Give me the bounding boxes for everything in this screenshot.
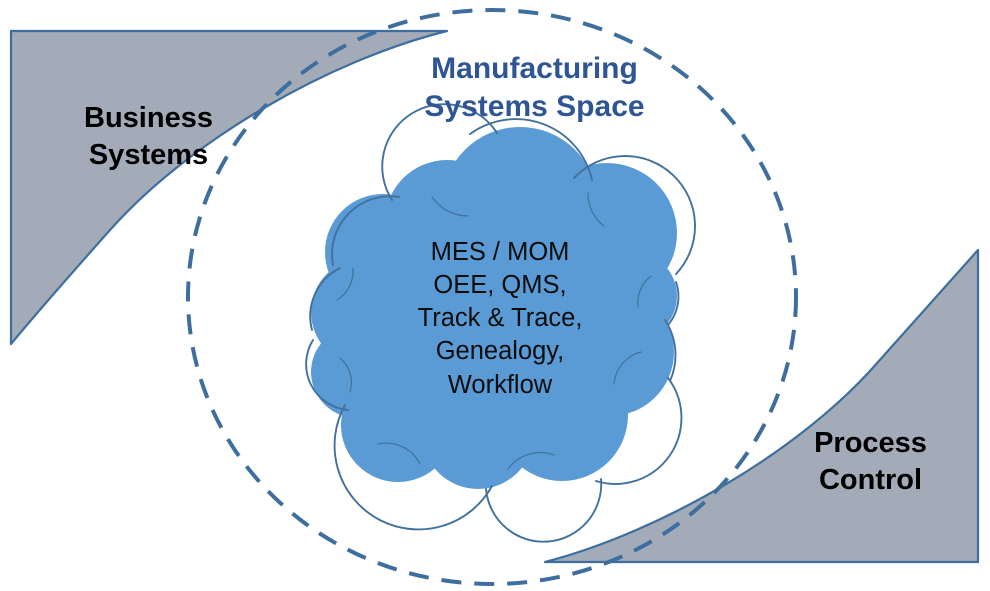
cloud-label: MES / MOM OEE, QMS, Track & Trace, Genea… xyxy=(360,236,640,402)
manufacturing-systems-space-label: Manufacturing Systems Space xyxy=(362,50,707,127)
right-region-label: Process Control xyxy=(768,425,973,499)
diagram-canvas: Business Systems Process Control Manufac… xyxy=(0,0,990,591)
left-region-label: Business Systems xyxy=(36,100,261,174)
